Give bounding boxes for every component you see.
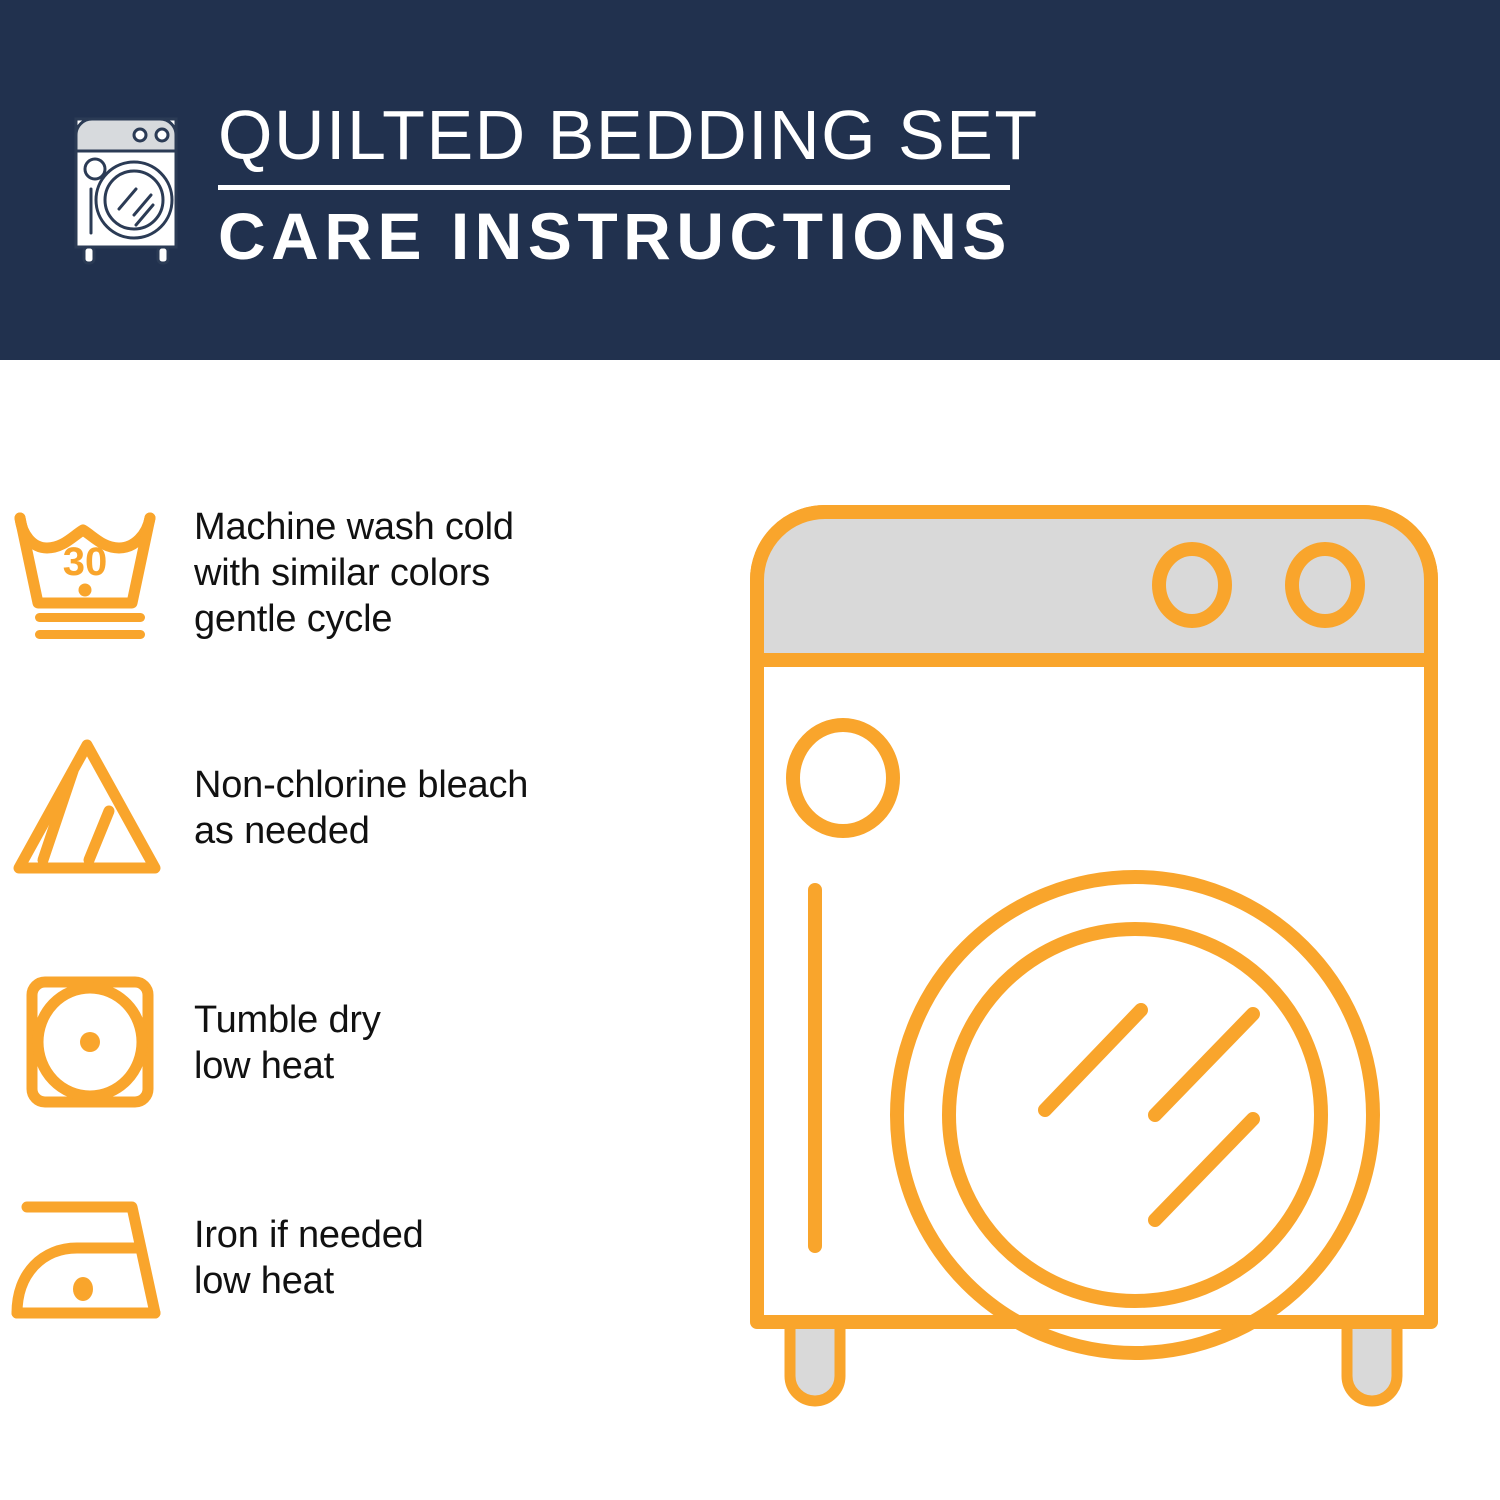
care-label-iron: Iron if needed low heat <box>180 1212 424 1304</box>
care-label-machine-wash: Machine wash cold with similar colors ge… <box>180 504 514 642</box>
care-label-line: gentle cycle <box>194 596 514 642</box>
care-row-bleach: Non-chlorine bleach as needed <box>0 735 700 880</box>
page-title: QUILTED BEDDING SET <box>218 96 1018 174</box>
header-band: QUILTED BEDDING SET CARE INSTRUCTIONS <box>0 0 1500 360</box>
care-label-line: low heat <box>194 1043 381 1089</box>
bleach-triangle-icon <box>0 735 180 880</box>
care-label-line: as needed <box>194 808 528 854</box>
page-subtitle: CARE INSTRUCTIONS <box>218 199 1018 273</box>
care-label-line: Tumble dry <box>194 997 381 1043</box>
care-label-line: Machine wash cold <box>194 504 514 550</box>
washing-machine-illustration <box>735 490 1455 1440</box>
care-label-line: Iron if needed <box>194 1212 424 1258</box>
care-row-iron: Iron if needed low heat <box>0 1185 700 1330</box>
care-row-machine-wash: 30 Machine wash cold with similar colors… <box>0 500 700 645</box>
care-instructions-list: 30 Machine wash cold with similar colors… <box>0 360 720 1500</box>
care-label-bleach: Non-chlorine bleach as needed <box>180 762 528 854</box>
care-instructions-infographic: QUILTED BEDDING SET CARE INSTRUCTIONS 30 <box>0 0 1500 1500</box>
leg-right <box>1347 1318 1397 1401</box>
header-text-block: QUILTED BEDDING SET CARE INSTRUCTIONS <box>218 96 1018 273</box>
iron-icon <box>0 1185 180 1330</box>
leg-left <box>790 1318 840 1401</box>
care-label-line: with similar colors <box>194 550 514 596</box>
care-label-tumble-dry: Tumble dry low heat <box>180 997 381 1089</box>
title-divider <box>218 185 1010 190</box>
tumble-dry-icon <box>0 970 180 1115</box>
wash-temperature-value: 30 <box>63 540 108 584</box>
care-row-tumble-dry: Tumble dry low heat <box>0 970 700 1115</box>
washing-machine-icon <box>62 105 202 265</box>
care-label-line: Non-chlorine bleach <box>194 762 528 808</box>
wash-tub-30-icon: 30 <box>0 500 180 645</box>
care-label-line: low heat <box>194 1258 424 1304</box>
